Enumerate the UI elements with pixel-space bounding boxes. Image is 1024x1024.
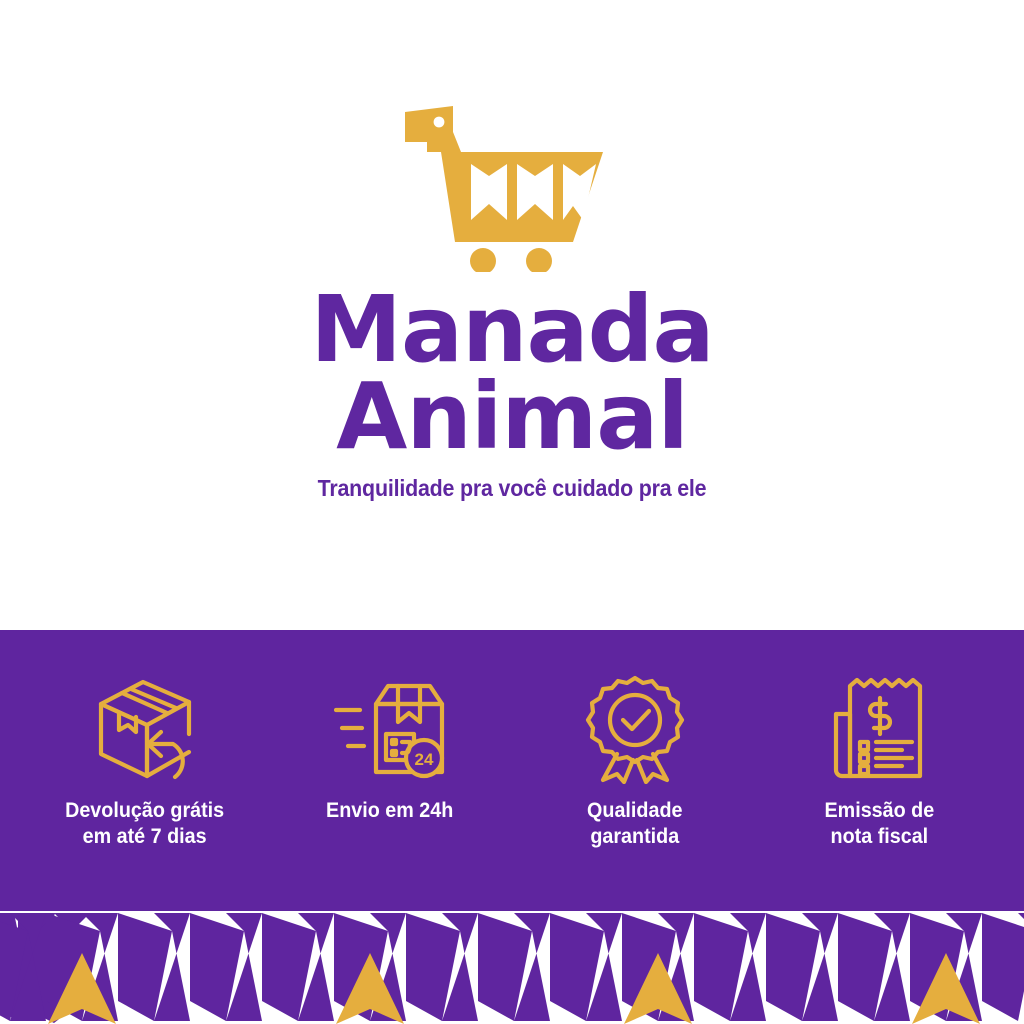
- brand-name-line-2: Animal: [310, 375, 713, 460]
- brand-name-line-1: Manada: [310, 288, 713, 373]
- feature-label-shipping: Envio em 24h: [326, 798, 453, 824]
- feature-item-invoice: Emissão de nota fiscal: [772, 672, 987, 849]
- return-box-icon: [89, 672, 201, 784]
- features-band: Devolução grátis em até 7 dias: [0, 630, 1024, 905]
- chevron-pennant-border: [0, 905, 1024, 1024]
- feature-item-quality: Qualidade garantida: [527, 672, 742, 849]
- poster-canvas: Manada Animal Tranquilidade pra você cui…: [0, 0, 1024, 1024]
- svg-text:24: 24: [414, 750, 433, 769]
- brand-tagline: Tranquilidade pra você cuidado pra ele: [318, 475, 707, 502]
- brand-hero-section: Manada Animal Tranquilidade pra você cui…: [0, 0, 1024, 630]
- invoice-receipt-icon: [824, 672, 936, 784]
- feature-label-quality: Qualidade garantida: [587, 798, 682, 849]
- chevron-pattern-svg: [0, 905, 1024, 1024]
- feature-item-shipping: 24 Envio em 24h: [282, 672, 497, 824]
- feature-label-return: Devolução grátis em até 7 dias: [65, 798, 224, 849]
- feature-label-invoice: Emissão de nota fiscal: [825, 798, 935, 849]
- feature-item-return: Devolução grátis em até 7 dias: [37, 672, 252, 849]
- brand-wordmark: Manada Animal: [310, 288, 713, 459]
- shopping-cart-animal-icon: [397, 104, 627, 272]
- fast-shipping-24h-icon: 24: [334, 672, 446, 784]
- quality-badge-icon: [579, 672, 691, 784]
